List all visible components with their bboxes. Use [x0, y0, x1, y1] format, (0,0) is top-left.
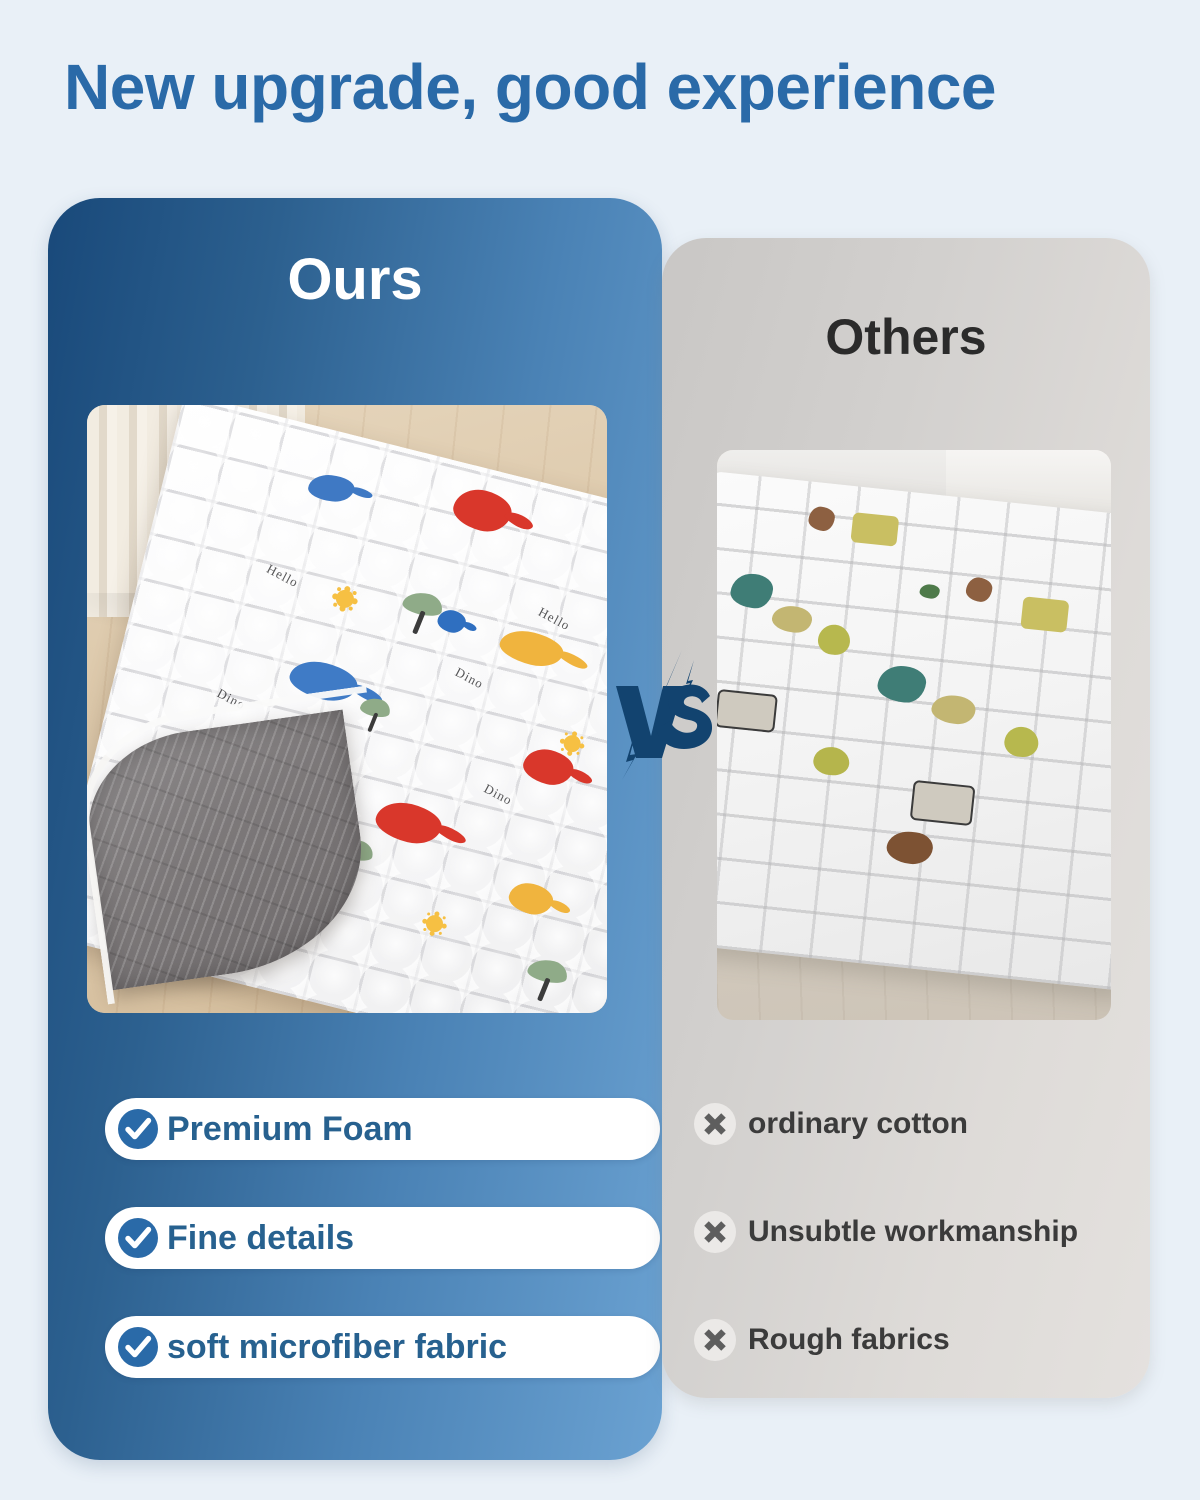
others-product-photo	[717, 450, 1111, 1020]
house-motif-yellow	[850, 512, 899, 547]
check-circle-icon	[117, 1217, 159, 1259]
dinosaur-motif-blue	[307, 473, 355, 504]
others-photo-scene	[717, 450, 1111, 1020]
feature-label: Fine details	[167, 1219, 354, 1258]
x-circle-icon	[693, 1102, 737, 1146]
check-circle-icon	[117, 1326, 159, 1368]
feature-label: soft microfiber fabric	[167, 1328, 507, 1367]
backpack-motif-gray	[910, 780, 976, 826]
x-circle-icon	[693, 1318, 737, 1362]
drawback-label: ordinary cotton	[748, 1107, 968, 1141]
backpack-motif-gray	[717, 689, 778, 733]
drawback-label: Unsubtle workmanship	[748, 1215, 1078, 1249]
dinosaur-motif-red	[449, 484, 515, 537]
feature-pill[interactable]: Premium Foam	[105, 1098, 660, 1160]
sun-motif	[424, 913, 445, 934]
balloon-motif-olive	[812, 745, 851, 777]
mat-print-word: Dino	[481, 781, 515, 809]
animal-motif-brown	[885, 829, 934, 866]
dinosaur-motif-yellow	[506, 879, 556, 919]
feature-label: Premium Foam	[167, 1110, 413, 1149]
balloon-motif-olive	[1003, 725, 1040, 758]
animal-motif-brown	[807, 505, 835, 532]
drawback-item[interactable]: Unsubtle workmanship	[693, 1208, 1133, 1256]
feature-pill[interactable]: Fine details	[105, 1207, 660, 1269]
comparison-panel-others: Others	[662, 238, 1150, 1398]
ordinary-mat-surface	[717, 471, 1111, 992]
vs-lightning-badge-icon: VS	[610, 650, 716, 780]
sun-motif	[334, 588, 356, 610]
others-drawback-list: ordinary cotton Unsubtle workmanship Rou…	[693, 1100, 1133, 1364]
drawback-item[interactable]: ordinary cotton	[693, 1100, 1133, 1148]
animal-motif-brown	[965, 576, 993, 603]
ours-photo-scene: Hello Dino Hello Dino Hello Dino ello	[87, 405, 607, 1013]
balloon-motif-olive	[817, 623, 852, 656]
page-title: New upgrade, good experience	[64, 50, 996, 124]
palm-leaf-motif	[401, 588, 445, 619]
dinosaur-motif-yellow	[497, 625, 567, 672]
ours-product-photo: Hello Dino Hello Dino Hello Dino ello	[87, 405, 607, 1013]
leaf-motif-green	[919, 583, 940, 599]
feature-pill[interactable]: soft microfiber fabric	[105, 1316, 660, 1378]
tree-motif-teal	[729, 572, 774, 610]
x-circle-icon	[693, 1210, 737, 1254]
check-circle-icon	[117, 1108, 159, 1150]
drawback-item[interactable]: Rough fabrics	[693, 1316, 1133, 1364]
sun-motif	[562, 733, 583, 754]
mat-print-word: Hello	[264, 561, 301, 591]
panel-title-others: Others	[662, 308, 1150, 366]
comparison-panel-ours: Ours	[48, 198, 662, 1460]
animal-motif-tan	[930, 693, 977, 725]
mat-print-word: Hello	[535, 604, 572, 634]
palm-leaf-motif	[526, 955, 570, 986]
house-motif-yellow	[1020, 596, 1069, 633]
animal-motif-tan	[771, 604, 813, 634]
mat-print-word: Dino	[452, 664, 486, 692]
drawback-label: Rough fabrics	[748, 1323, 950, 1357]
tree-motif-teal	[876, 664, 928, 705]
panel-title-ours: Ours	[48, 246, 662, 313]
ours-feature-list: Premium Foam Fine details soft microfibe…	[105, 1098, 660, 1378]
